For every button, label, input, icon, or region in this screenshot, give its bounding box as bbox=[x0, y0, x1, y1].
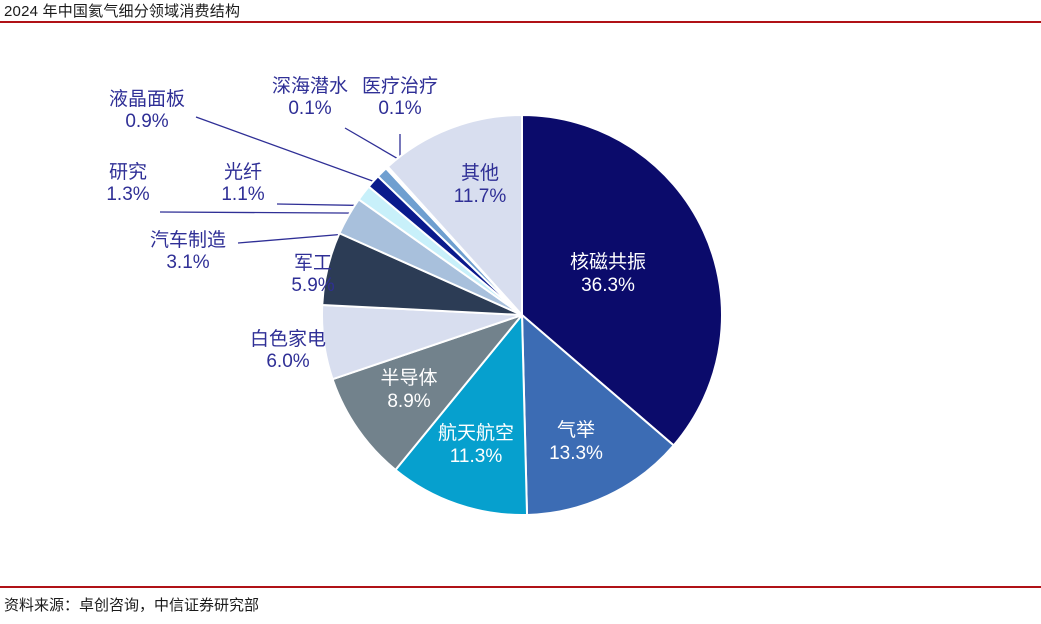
callout-automotive-pct: 3.1% bbox=[136, 252, 240, 274]
callout-research: 研究 1.3% bbox=[90, 162, 166, 207]
callout-fiber-name: 光纤 bbox=[224, 162, 262, 183]
callout-medical-name: 医疗治疗 bbox=[362, 76, 438, 97]
callout-fiber: 光纤 1.1% bbox=[204, 162, 282, 207]
callout-diving-pct: 0.1% bbox=[255, 98, 365, 120]
callout-medical-pct: 0.1% bbox=[352, 98, 448, 120]
header-divider bbox=[0, 21, 1041, 23]
figure-page: 2024 年中国氦气细分领域消费结构 bbox=[0, 0, 1041, 624]
callout-fiber-pct: 1.1% bbox=[204, 184, 282, 206]
pie-slices bbox=[322, 115, 722, 515]
callout-military-name: 军工 bbox=[294, 253, 332, 274]
callout-appliance: 白色家电 6.0% bbox=[234, 329, 342, 374]
source-note: 资料来源：卓创咨询，中信证券研究部 bbox=[4, 594, 259, 615]
callout-automotive: 汽车制造 3.1% bbox=[136, 230, 240, 275]
callout-research-pct: 1.3% bbox=[90, 184, 166, 206]
callout-automotive-name: 汽车制造 bbox=[150, 230, 226, 251]
callout-diving-name: 深海潜水 bbox=[272, 76, 348, 97]
callout-appliance-name: 白色家电 bbox=[250, 329, 326, 350]
callout-research-name: 研究 bbox=[109, 162, 147, 183]
footer-divider bbox=[0, 586, 1041, 588]
callout-lcd-name: 液晶面板 bbox=[109, 89, 185, 110]
callout-lcd-pct: 0.9% bbox=[92, 111, 202, 133]
callout-lcd: 液晶面板 0.9% bbox=[92, 89, 202, 134]
callout-appliance-pct: 6.0% bbox=[234, 351, 342, 373]
callout-diving: 深海潜水 0.1% bbox=[255, 76, 365, 121]
page-title: 2024 年中国氦气细分领域消费结构 bbox=[4, 0, 240, 21]
callout-military: 军工 5.9% bbox=[279, 253, 347, 298]
callout-military-pct: 5.9% bbox=[279, 275, 347, 297]
callout-medical: 医疗治疗 0.1% bbox=[352, 76, 448, 121]
figure-header: 2024 年中国氦气细分领域消费结构 bbox=[0, 0, 1041, 22]
pie-chart-area: 液晶面板 0.9% 深海潜水 0.1% 医疗治疗 0.1% 研究 1.3% 光纤… bbox=[0, 24, 1041, 584]
